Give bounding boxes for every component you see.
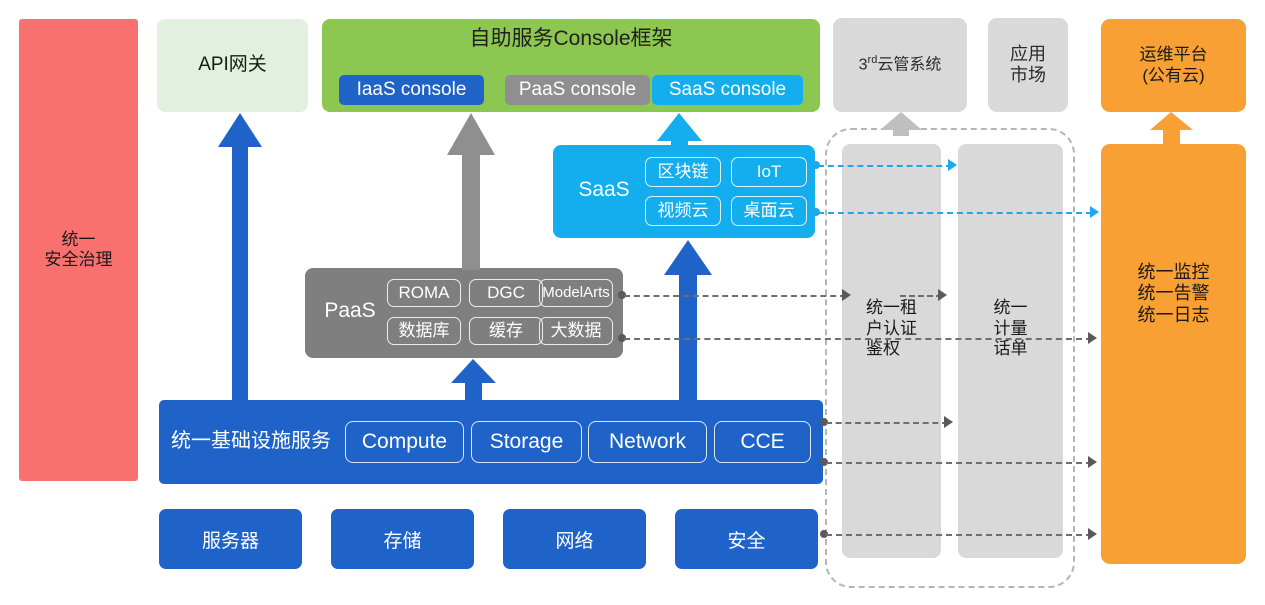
paas-service-label: ModelArts bbox=[542, 284, 610, 302]
conn-line-infra-to-ops bbox=[826, 462, 1092, 464]
hardware-box-storage[interactable]: 存储 bbox=[331, 509, 474, 569]
console-frame-title: 自助服务Console框架 bbox=[322, 27, 820, 52]
iaas-console-label: IaaS console bbox=[357, 79, 467, 101]
saas-service-iot[interactable]: IoT bbox=[731, 157, 807, 187]
saas-service-label: 视频云 bbox=[658, 201, 709, 221]
metering-line1: 统一 bbox=[994, 298, 1028, 318]
infra-service-label: Storage bbox=[490, 430, 564, 455]
conn-head-saas-to-ops bbox=[1090, 206, 1099, 218]
conn-head-infra-to-auth bbox=[944, 416, 953, 428]
saas-service-label: 桌面云 bbox=[744, 201, 795, 221]
third-party-suffix: 云管系统 bbox=[877, 57, 941, 74]
api-gateway-box: API网关 bbox=[157, 19, 308, 112]
api-gateway-label: API网关 bbox=[198, 54, 267, 76]
infra-service-storage[interactable]: Storage bbox=[471, 421, 582, 463]
paas-service-label: 缓存 bbox=[489, 321, 523, 341]
hardware-box-network[interactable]: 网络 bbox=[503, 509, 646, 569]
paas-service-roma[interactable]: ROMA bbox=[387, 279, 461, 307]
paas-service-bigdata[interactable]: 大数据 bbox=[539, 317, 613, 345]
arrow-paas-to-console bbox=[447, 113, 495, 270]
unified-security-governance-panel: 统一 安全治理 bbox=[19, 19, 138, 481]
conn-line-paas-to-ops bbox=[624, 338, 1092, 340]
paas-service-modelarts[interactable]: ModelArts bbox=[539, 279, 613, 307]
ops-bar-line1: 统一监控 bbox=[1138, 262, 1210, 283]
tenant-auth-line3: 鉴权 bbox=[866, 339, 917, 359]
app-market-line1: 应用 bbox=[1010, 44, 1046, 65]
conn-line-hardware-to-ops bbox=[826, 534, 1092, 536]
infra-service-label: CCE bbox=[740, 430, 784, 455]
saas-service-label: 区块链 bbox=[658, 162, 709, 182]
infra-service-label: Network bbox=[609, 430, 686, 455]
hardware-label: 服务器 bbox=[202, 526, 259, 553]
app-market-line2: 市场 bbox=[1010, 65, 1046, 86]
ops-bar-line3: 统一日志 bbox=[1138, 305, 1210, 326]
hardware-label: 存储 bbox=[383, 526, 421, 553]
unified-tenant-auth-column: 统一租 户认证 鉴权 bbox=[842, 144, 941, 558]
ops-platform-public-cloud-box: 运维平台 (公有云) bbox=[1101, 19, 1246, 112]
saas-console-label: SaaS console bbox=[669, 79, 786, 101]
conn-head-infra-to-ops bbox=[1088, 456, 1097, 468]
conn-line-infra-to-auth bbox=[826, 422, 948, 424]
arrow-infra-to-saas bbox=[664, 240, 712, 402]
hardware-box-server[interactable]: 服务器 bbox=[159, 509, 302, 569]
metering-line2: 计量 bbox=[994, 319, 1028, 339]
infra-bar-label: 统一基础设施服务 bbox=[171, 430, 331, 454]
unified-monitoring-bar: 统一监控 统一告警 统一日志 bbox=[1101, 144, 1246, 564]
conn-head-auth-to-metering bbox=[938, 289, 947, 301]
saas-console-chip[interactable]: SaaS console bbox=[652, 75, 803, 105]
architecture-diagram-canvas: 统一 安全治理 API网关 自助服务Console框架 IaaS console… bbox=[0, 0, 1265, 605]
paas-service-database[interactable]: 数据库 bbox=[387, 317, 461, 345]
saas-service-label: IoT bbox=[757, 162, 782, 182]
third-party-prefix: 3 bbox=[859, 57, 868, 74]
arrow-ops-bar-to-ops-top bbox=[1150, 112, 1193, 145]
security-panel-line2: 安全治理 bbox=[45, 250, 113, 270]
ops-bar-line2: 统一告警 bbox=[1138, 283, 1210, 304]
infra-service-network[interactable]: Network bbox=[588, 421, 707, 463]
self-service-console-frame: 自助服务Console框架 IaaS console PaaS console … bbox=[322, 19, 820, 112]
conn-head-paas-to-ops bbox=[1088, 332, 1097, 344]
unified-infrastructure-bar: 统一基础设施服务 Compute Storage Network CCE bbox=[159, 400, 823, 484]
conn-line-paas-to-auth bbox=[624, 295, 846, 297]
ops-platform-line1: 运维平台 bbox=[1140, 45, 1208, 65]
third-party-label: 3rd云管系统 bbox=[859, 54, 942, 75]
infra-service-compute[interactable]: Compute bbox=[345, 421, 464, 463]
arrow-infra-to-api-gateway bbox=[218, 113, 262, 402]
tenant-auth-line2: 户认证 bbox=[866, 319, 917, 339]
conn-line-saas-to-metering bbox=[818, 165, 952, 167]
ops-platform-line2: (公有云) bbox=[1140, 66, 1208, 86]
saas-layer-label: SaaS bbox=[565, 178, 643, 203]
hardware-box-security[interactable]: 安全 bbox=[675, 509, 818, 569]
conn-head-hardware-to-ops bbox=[1088, 528, 1097, 540]
unified-metering-billing-column: 统一 计量 话单 bbox=[958, 144, 1063, 558]
third-party-cloud-mgmt-box: 3rd云管系统 bbox=[833, 18, 967, 112]
paas-console-chip[interactable]: PaaS console bbox=[505, 75, 650, 105]
conn-line-saas-to-ops bbox=[818, 212, 1092, 214]
paas-service-label: 大数据 bbox=[551, 321, 602, 341]
metering-line3: 话单 bbox=[994, 339, 1028, 359]
infra-service-cce[interactable]: CCE bbox=[714, 421, 811, 463]
paas-console-label: PaaS console bbox=[519, 79, 636, 101]
third-party-superscript: rd bbox=[868, 54, 878, 66]
paas-service-label: DGC bbox=[487, 283, 525, 303]
hardware-label: 网络 bbox=[555, 526, 593, 553]
security-panel-line1: 统一 bbox=[45, 230, 113, 250]
paas-service-label: ROMA bbox=[399, 283, 450, 303]
conn-head-saas-to-metering bbox=[948, 159, 957, 171]
paas-service-label: 数据库 bbox=[399, 321, 450, 341]
hardware-label: 安全 bbox=[727, 526, 765, 553]
saas-layer-block: SaaS 区块链 IoT 视频云 桌面云 bbox=[553, 145, 815, 238]
conn-head-paas-to-auth bbox=[842, 289, 851, 301]
paas-service-cache[interactable]: 缓存 bbox=[469, 317, 543, 345]
app-market-box: 应用 市场 bbox=[988, 18, 1068, 112]
iaas-console-chip[interactable]: IaaS console bbox=[339, 75, 484, 105]
saas-service-video-cloud[interactable]: 视频云 bbox=[645, 196, 721, 226]
saas-service-desktop-cloud[interactable]: 桌面云 bbox=[731, 196, 807, 226]
arrow-infra-to-paas bbox=[451, 359, 496, 402]
paas-layer-label: PaaS bbox=[315, 299, 385, 324]
conn-line-auth-to-metering bbox=[900, 295, 942, 297]
tenant-auth-line1: 统一租 bbox=[866, 298, 917, 318]
infra-service-label: Compute bbox=[362, 430, 447, 455]
arrow-saas-to-console bbox=[657, 113, 702, 148]
paas-layer-block: PaaS ROMA DGC ModelArts 数据库 缓存 大数据 bbox=[305, 268, 623, 358]
saas-service-blockchain[interactable]: 区块链 bbox=[645, 157, 721, 187]
paas-service-dgc[interactable]: DGC bbox=[469, 279, 543, 307]
